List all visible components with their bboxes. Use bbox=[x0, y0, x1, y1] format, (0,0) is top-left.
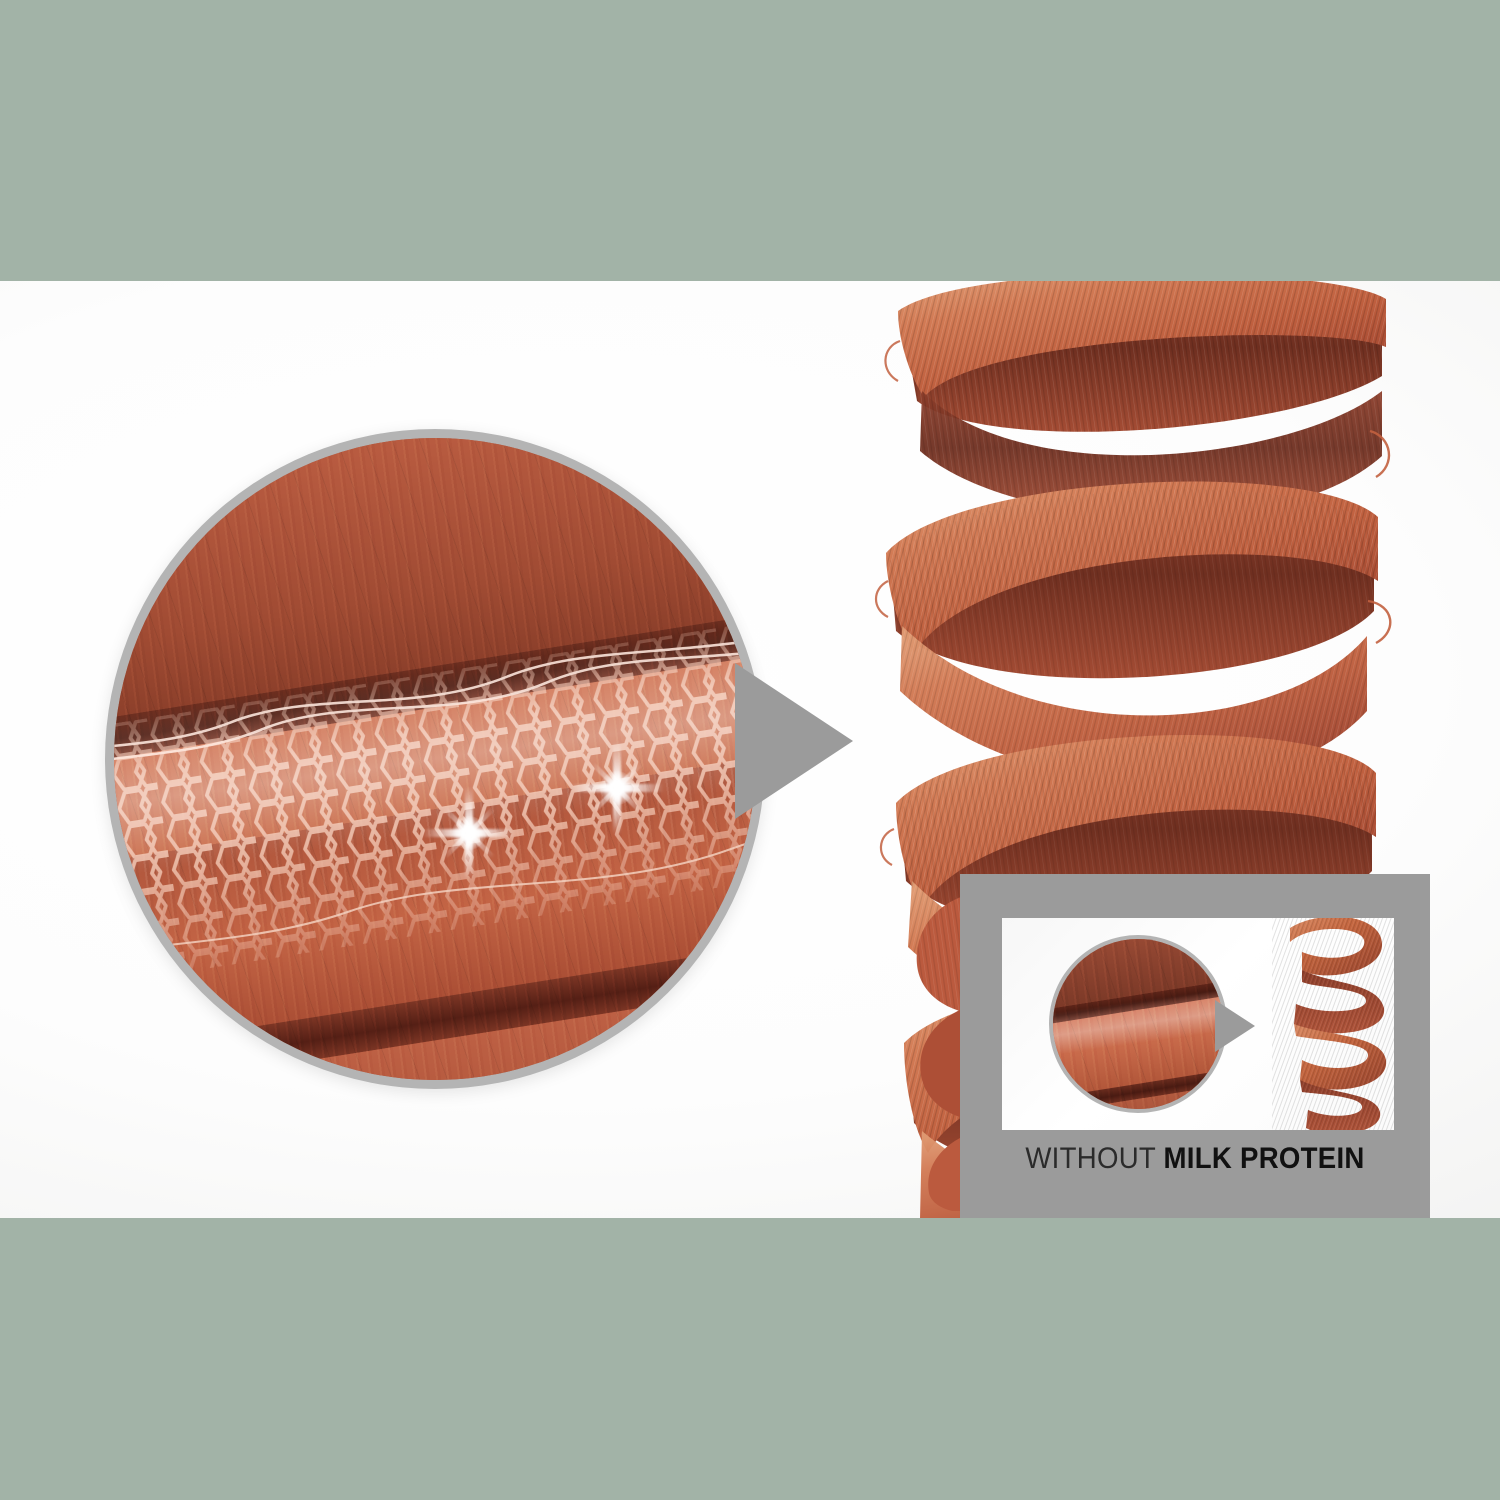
without-protein-inset-panel: WITHOUT MILK PROTEIN bbox=[960, 874, 1430, 1218]
inset-caption-bold: MILK PROTEIN bbox=[1164, 1142, 1365, 1175]
hair-fiber-magnifier bbox=[105, 429, 765, 1089]
illustration-stage: WITHOUT MILK PROTEIN bbox=[0, 281, 1500, 1218]
header-band bbox=[0, 0, 1500, 281]
limp-hair-curl bbox=[1272, 918, 1394, 1130]
inset-pointer-arrow bbox=[1215, 1000, 1255, 1052]
hair-fiber-magnifier-without-protein bbox=[1049, 935, 1227, 1113]
infographic-page: MILK PROTEIN bbox=[0, 0, 1500, 1500]
inset-caption-regular: WITHOUT bbox=[1025, 1142, 1163, 1175]
inset-caption: WITHOUT MILK PROTEIN bbox=[979, 1142, 1411, 1176]
inset-illustration-area bbox=[1002, 918, 1394, 1130]
pointer-arrow bbox=[735, 663, 853, 819]
footer-band bbox=[0, 1218, 1500, 1500]
